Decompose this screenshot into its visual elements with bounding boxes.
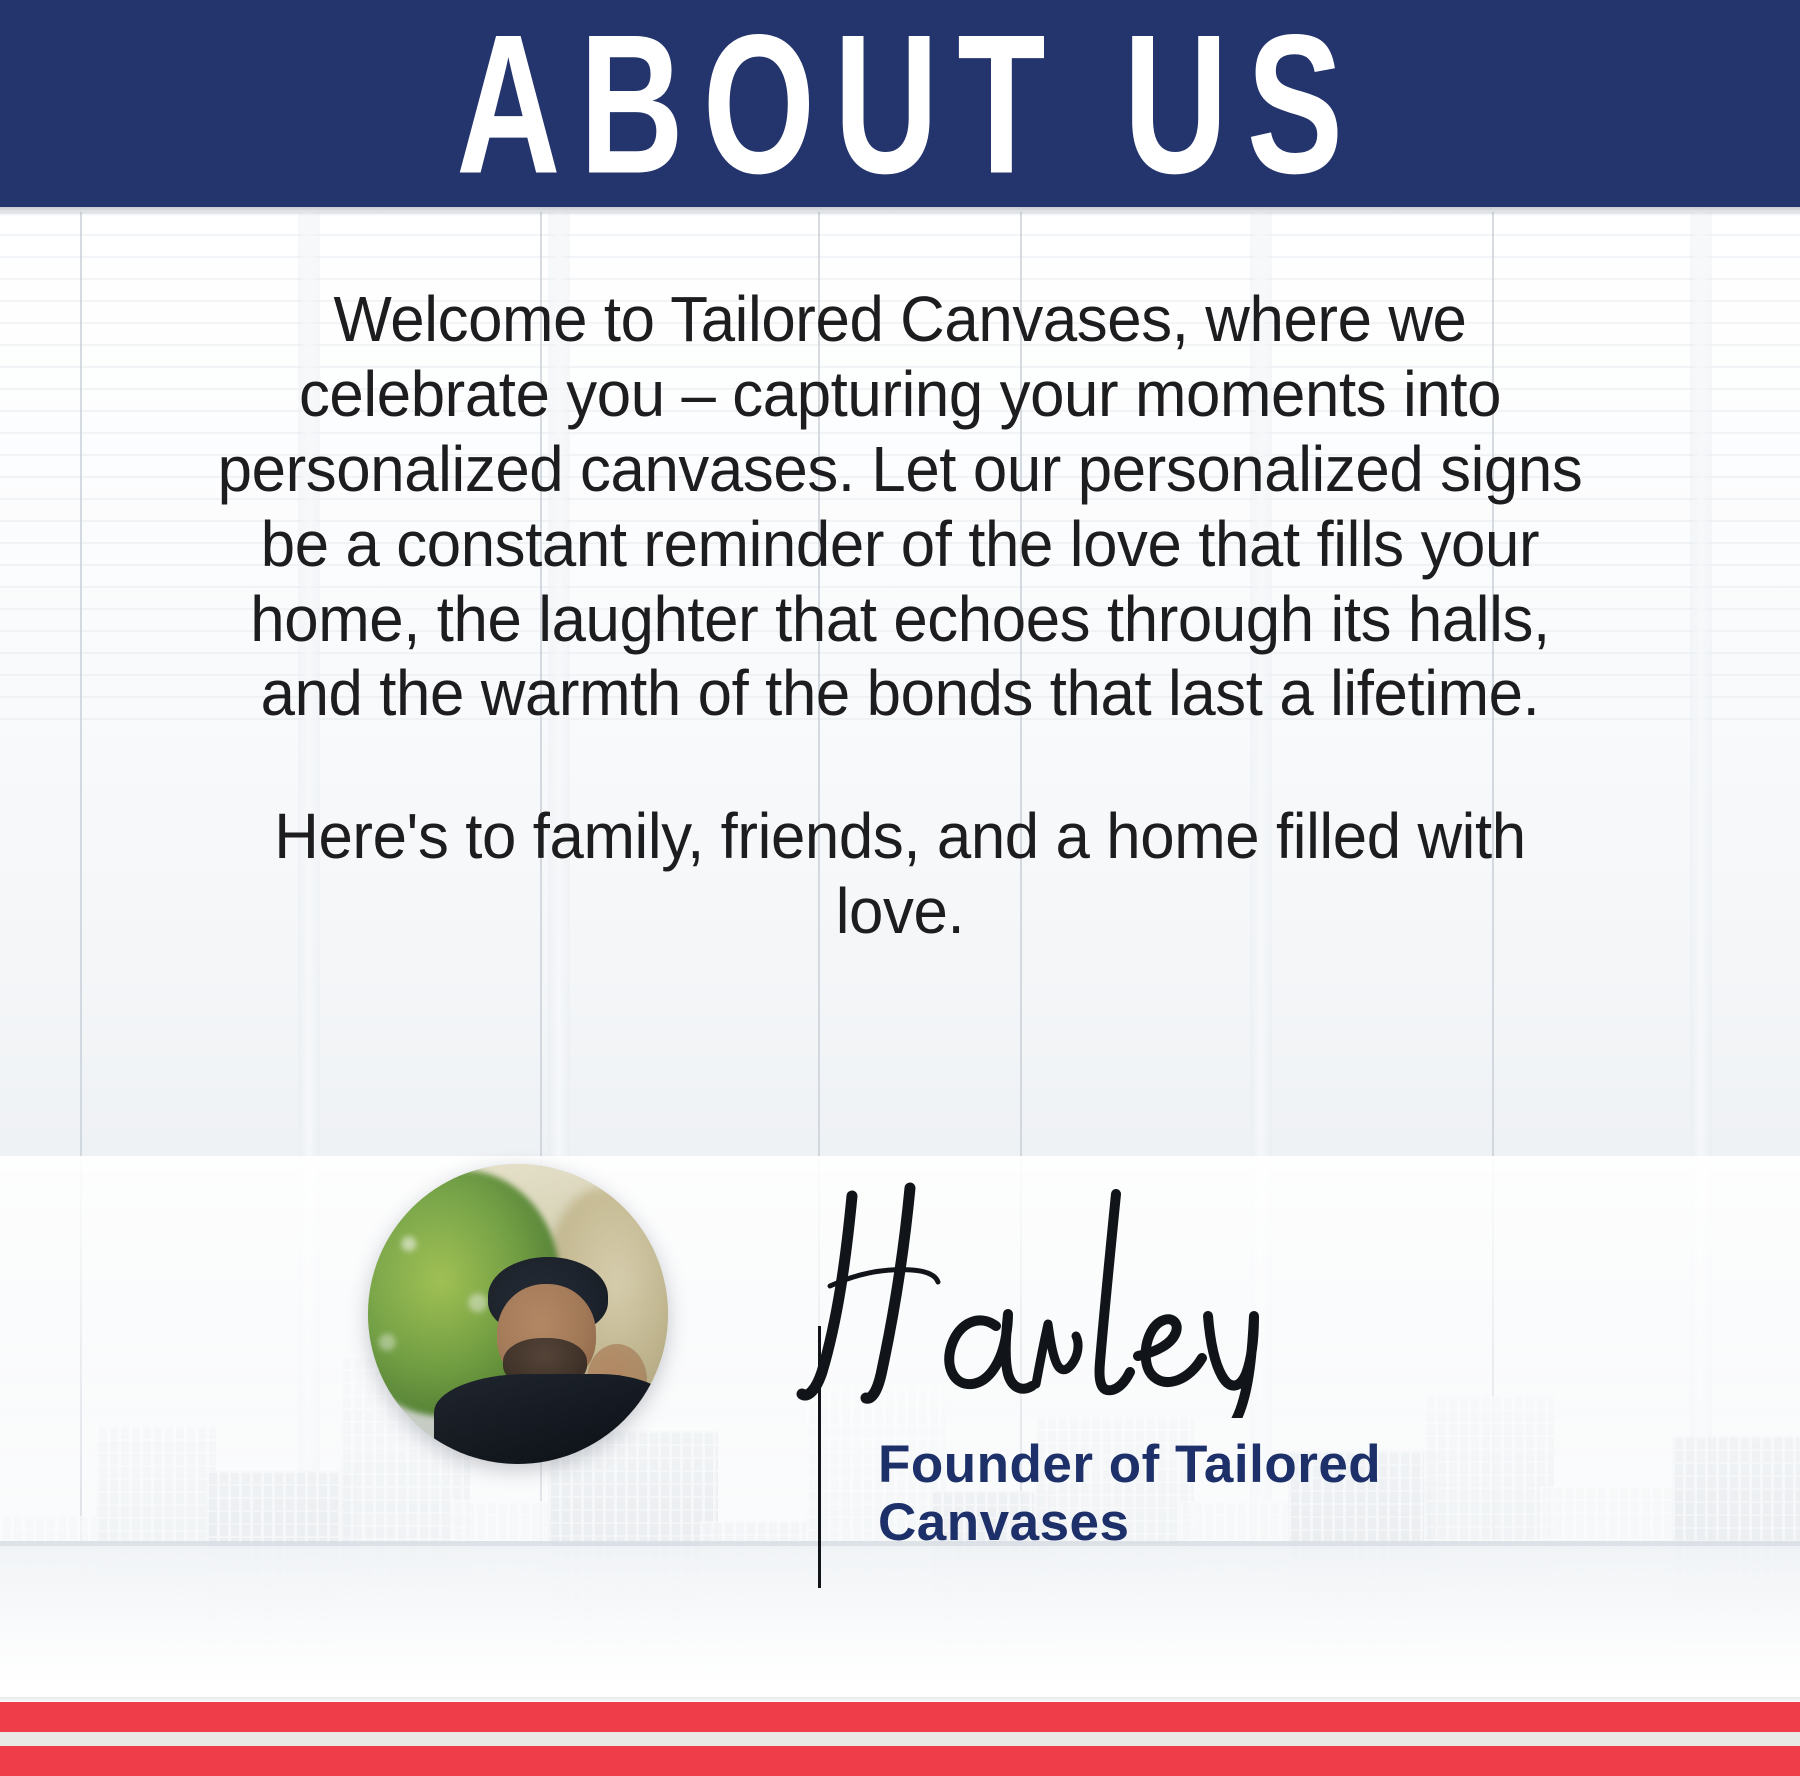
footer-stripe-bottom <box>0 1746 1800 1776</box>
footer-stripe-gap <box>0 1732 1800 1746</box>
role-line-1: Founder of Tailored <box>878 1436 1518 1494</box>
header-banner: ABOUT US <box>0 0 1800 207</box>
role-line-2: Canvases <box>878 1494 1518 1552</box>
banner-shadow <box>0 207 1800 216</box>
about-us-poster: ABOUT US Welcome to Tailored Canvases, w… <box>0 0 1800 1776</box>
signature-harley <box>760 1158 1320 1418</box>
about-copy: Welcome to Tailored Canvases, where we c… <box>215 282 1585 949</box>
signature-divider <box>818 1326 821 1588</box>
page-title: ABOUT US <box>438 4 1363 202</box>
signature-area: Founder of Tailored Canvases <box>0 1136 1800 1656</box>
paragraph-spacer <box>215 731 1585 799</box>
avatar <box>368 1164 668 1464</box>
founder-photo <box>368 1164 668 1464</box>
paragraph-1: Welcome to Tailored Canvases, where we c… <box>215 282 1585 731</box>
founder-role: Founder of Tailored Canvases <box>878 1436 1518 1553</box>
paragraph-2: Here's to family, friends, and a home fi… <box>215 799 1585 949</box>
footer-stripe-top <box>0 1702 1800 1732</box>
